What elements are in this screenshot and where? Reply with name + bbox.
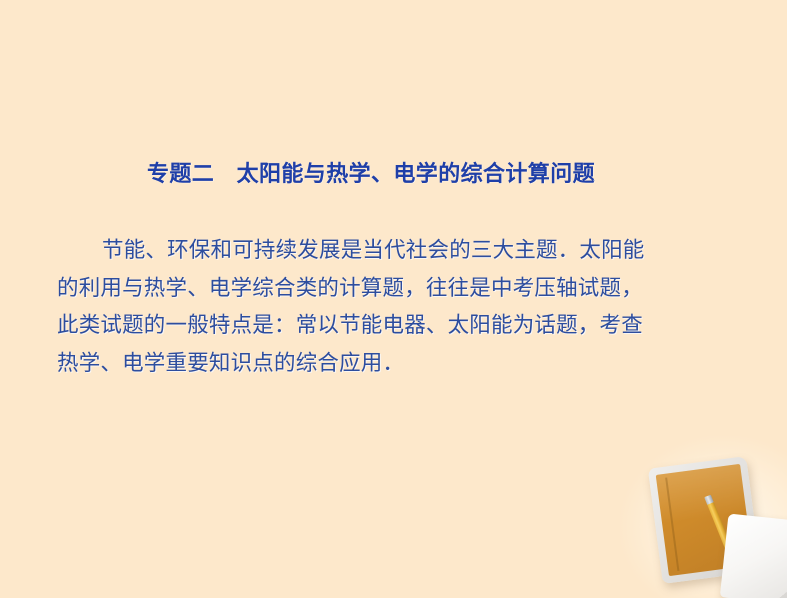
page-title: 专题二 太阳能与热学、电学的综合计算问题	[147, 160, 595, 190]
paper-fold-corner	[774, 585, 787, 598]
body-line: 热学、电学重要知识点的综合应用．	[57, 345, 729, 383]
paper-sheet-icon	[720, 513, 787, 598]
slide-canvas: 专题二 太阳能与热学、电学的综合计算问题 节能、环保和可持续发展是当代社会的三大…	[0, 0, 787, 598]
body-line: 此类试题的一般特点是：常以节能电器、太阳能为话题，考查	[57, 307, 729, 345]
body-line: 的利用与热学、电学综合类的计算题，往往是中考压轴试题，	[57, 270, 729, 308]
decorative-stationery-illustration	[626, 444, 787, 598]
body-paragraph: 节能、环保和可持续发展是当代社会的三大主题．太阳能 的利用与热学、电学综合类的计…	[57, 232, 729, 382]
body-line: 节能、环保和可持续发展是当代社会的三大主题．太阳能	[57, 232, 729, 270]
